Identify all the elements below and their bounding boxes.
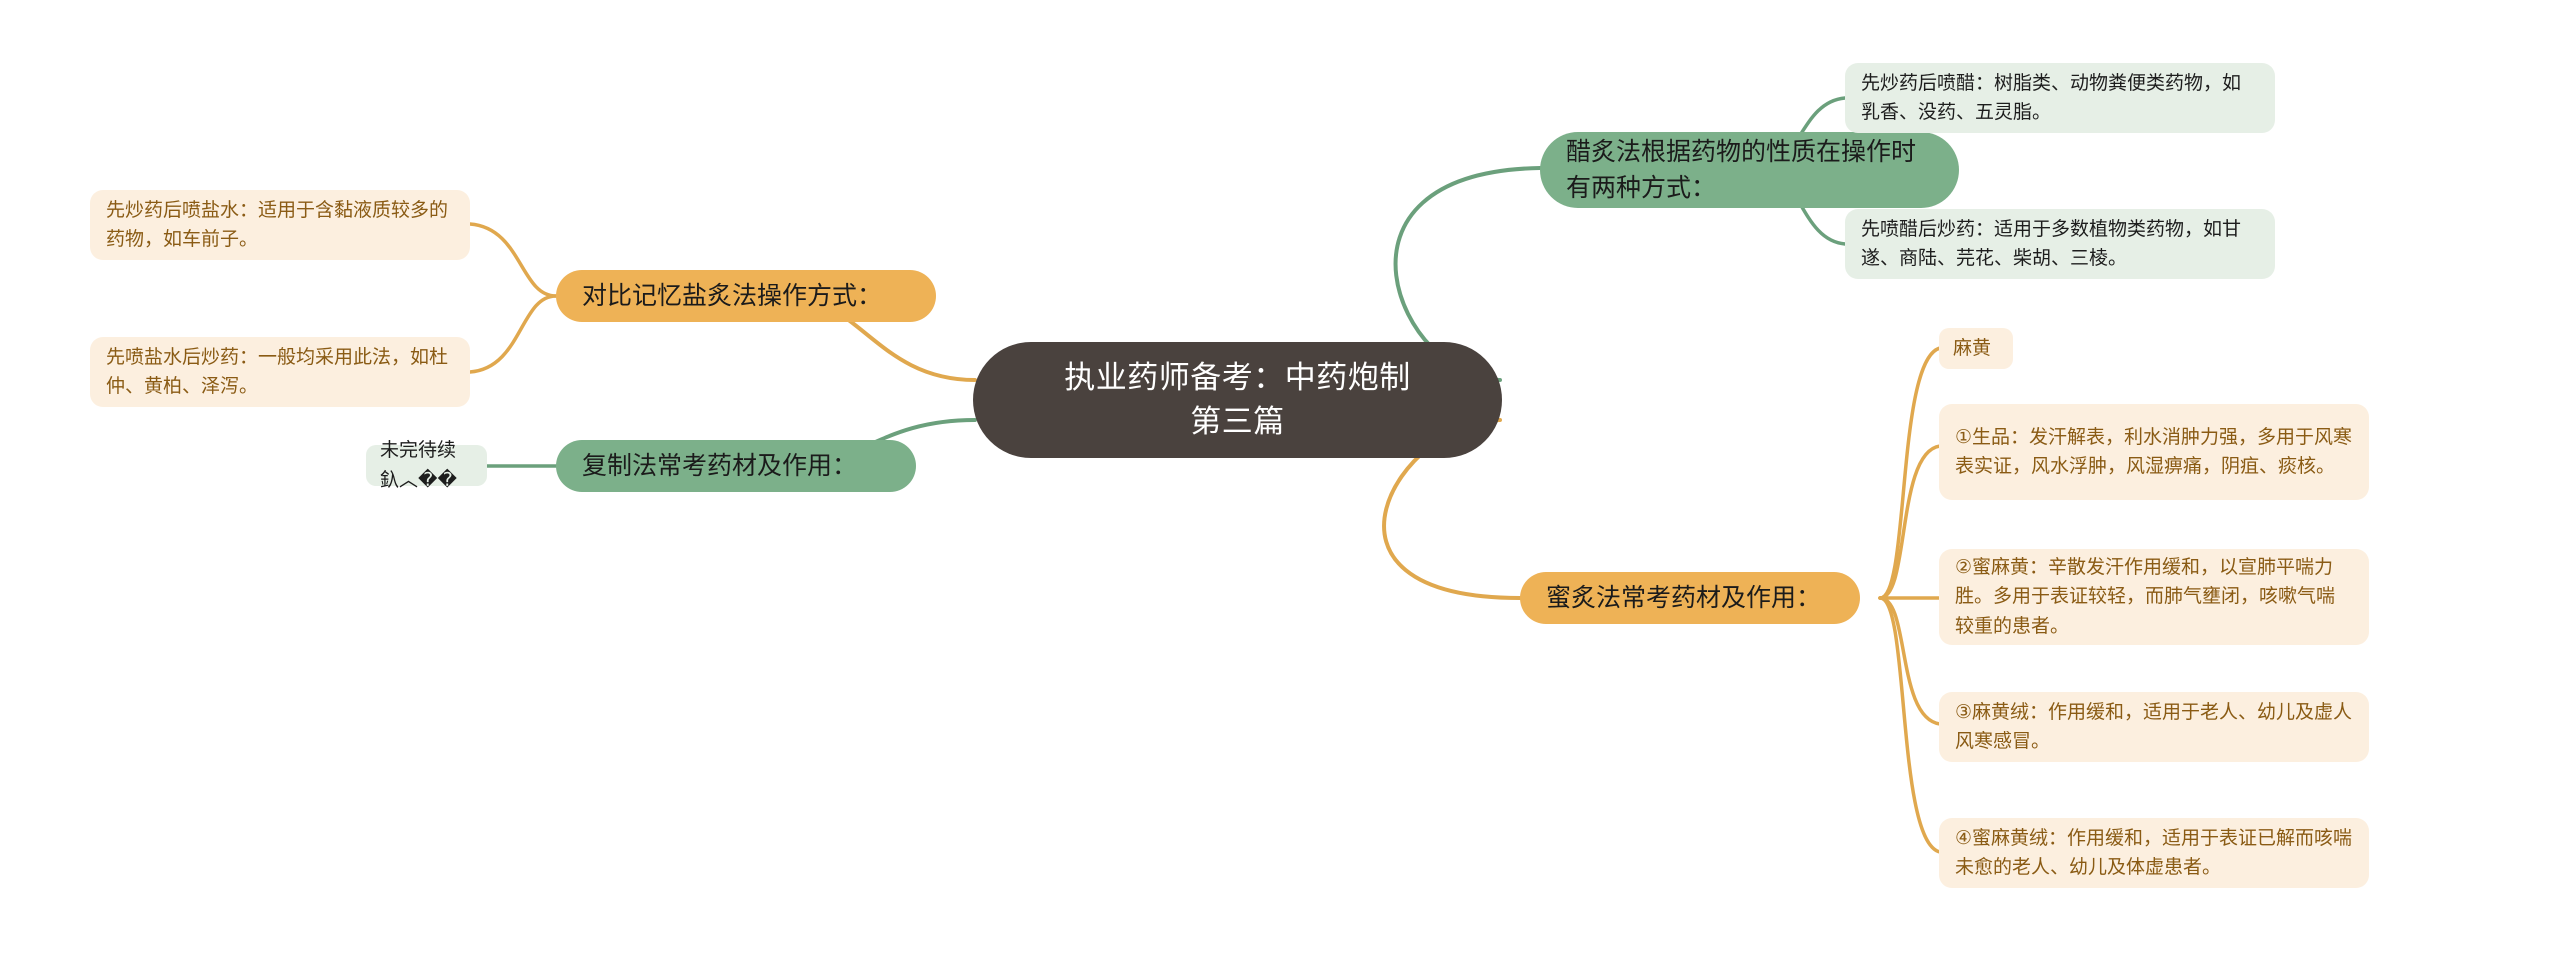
- vinegar-leaf-1[interactable]: 先炒药后喷醋：树脂类、动物粪便类药物，如乳香、没药、五灵脂。: [1845, 63, 2275, 133]
- link-honey-child-2: [1880, 446, 1940, 598]
- branch-compound-method-node[interactable]: 复制法常考药材及作用：: [556, 440, 916, 492]
- branch-salt-roasting-node[interactable]: 对比记忆盐炙法操作方式：: [556, 270, 936, 322]
- salt-leaf-2-label: 先喷盐水后炒药：一般均采用此法，如杜仲、黄柏、泽泻。: [106, 343, 454, 402]
- honey-leaf-1-label: 麻黄: [1953, 334, 1999, 363]
- compound-leaf-1-label: 未完待续釞︿��: [380, 436, 473, 495]
- mindmap-canvas: 执业药师备考：中药炮制第三篇 对比记忆盐炙法操作方式： 先炒药后喷盐水：适用于含…: [0, 0, 2560, 959]
- branch-vinegar-roasting-node[interactable]: 醋炙法根据药物的性质在操作时有两种方式：: [1540, 132, 1959, 208]
- honey-leaf-2[interactable]: ①生品：发汗解表，利水消肿力强，多用于风寒表实证，风水浮肿，风湿痹痛，阴疽、痰核…: [1939, 404, 2369, 500]
- branch-vinegar-roasting-label: 醋炙法根据药物的性质在操作时有两种方式：: [1566, 134, 1933, 207]
- branch-salt-roasting-label: 对比记忆盐炙法操作方式：: [582, 278, 910, 314]
- honey-leaf-3-label: ②蜜麻黄：辛散发汗作用缓和，以宣肺平喘力胜。多用于表证较轻，而肺气壅闭，咳嗽气喘…: [1955, 553, 2353, 641]
- root-node[interactable]: 执业药师备考：中药炮制第三篇: [973, 342, 1502, 458]
- link-salt-child-2: [470, 296, 556, 372]
- salt-leaf-1-label: 先炒药后喷盐水：适用于含黏液质较多的药物，如车前子。: [106, 196, 454, 255]
- compound-leaf-1[interactable]: 未完待续釞︿��: [366, 445, 487, 486]
- honey-leaf-4-label: ③麻黄绒：作用缓和，适用于老人、幼儿及虚人风寒感冒。: [1955, 698, 2353, 757]
- honey-leaf-3[interactable]: ②蜜麻黄：辛散发汗作用缓和，以宣肺平喘力胜。多用于表证较轻，而肺气壅闭，咳嗽气喘…: [1939, 549, 2369, 645]
- link-honey-child-5: [1880, 598, 1940, 852]
- root-node-label: 执业药师备考：中药炮制第三篇: [1007, 356, 1468, 444]
- link-salt-child-1: [470, 224, 556, 296]
- vinegar-leaf-1-label: 先炒药后喷醋：树脂类、动物粪便类药物，如乳香、没药、五灵脂。: [1861, 69, 2259, 128]
- vinegar-leaf-2-label: 先喷醋后炒药：适用于多数植物类药物，如甘遂、商陆、芫花、柴胡、三棱。: [1861, 215, 2259, 274]
- salt-leaf-2[interactable]: 先喷盐水后炒药：一般均采用此法，如杜仲、黄柏、泽泻。: [90, 337, 470, 407]
- branch-compound-method-label: 复制法常考药材及作用：: [582, 448, 890, 484]
- honey-leaf-1[interactable]: 麻黄: [1939, 328, 2013, 369]
- salt-leaf-1[interactable]: 先炒药后喷盐水：适用于含黏液质较多的药物，如车前子。: [90, 190, 470, 260]
- branch-honey-roasting-label: 蜜炙法常考药材及作用：: [1546, 580, 1834, 616]
- honey-leaf-2-label: ①生品：发汗解表，利水消肿力强，多用于风寒表实证，风水浮肿，风湿痹痛，阴疽、痰核…: [1955, 423, 2353, 482]
- link-honey-child-4: [1880, 598, 1940, 724]
- honey-leaf-5[interactable]: ④蜜麻黄绒：作用缓和，适用于表证已解而咳喘未愈的老人、幼儿及体虚患者。: [1939, 818, 2369, 888]
- honey-leaf-5-label: ④蜜麻黄绒：作用缓和，适用于表证已解而咳喘未愈的老人、幼儿及体虚患者。: [1955, 824, 2353, 883]
- link-honey-child-1: [1880, 348, 1940, 598]
- vinegar-leaf-2[interactable]: 先喷醋后炒药：适用于多数植物类药物，如甘遂、商陆、芫花、柴胡、三棱。: [1845, 209, 2275, 279]
- honey-leaf-4[interactable]: ③麻黄绒：作用缓和，适用于老人、幼儿及虚人风寒感冒。: [1939, 692, 2369, 762]
- branch-honey-roasting-node[interactable]: 蜜炙法常考药材及作用：: [1520, 572, 1860, 624]
